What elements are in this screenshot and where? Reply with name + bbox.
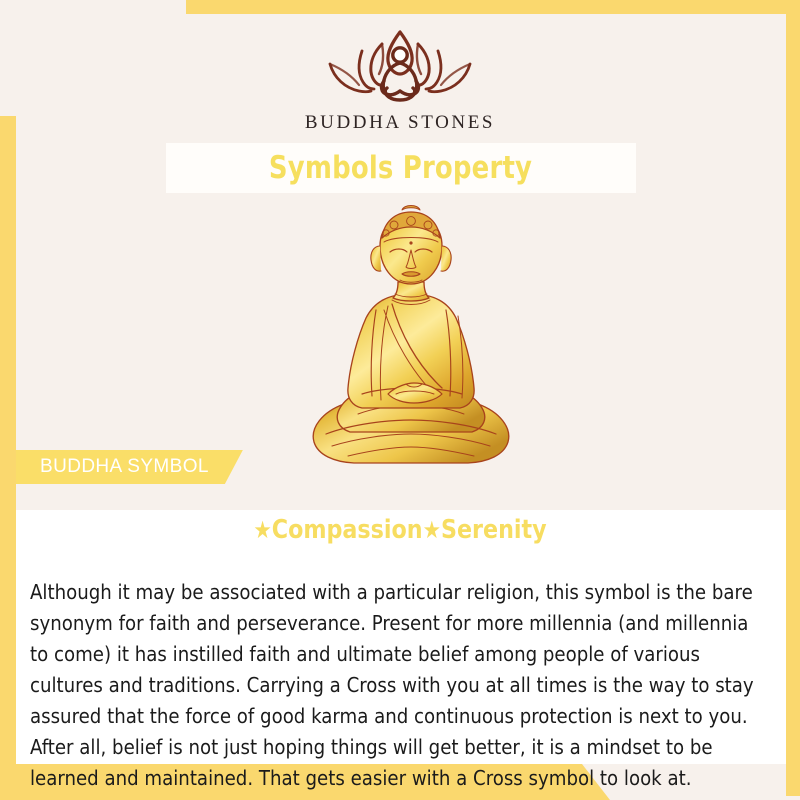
star-icon-right: ★	[423, 516, 441, 544]
lotus-meditation-figure-icon	[312, 24, 488, 108]
poster-canvas: BUDDHA STONES Symbols Property	[0, 0, 800, 800]
body-paragraph: Although it may be associated with a par…	[30, 577, 763, 794]
title-banner: Symbols Property	[166, 143, 636, 193]
subtitle-term-one: Compassion	[272, 515, 423, 545]
page-title: Symbols Property	[269, 150, 532, 186]
status-badge-label: BUDDHA SYMBOL	[40, 456, 209, 478]
decorative-top-band	[186, 0, 800, 14]
decorative-left-band	[0, 116, 16, 800]
status-badge: BUDDHA SYMBOL	[16, 450, 243, 484]
hero-image	[296, 198, 526, 498]
subtitle-term-two: Serenity	[441, 515, 547, 545]
star-icon-left: ★	[253, 516, 271, 544]
seated-golden-buddha-illustration	[296, 198, 526, 498]
brand-wordmark: BUDDHA STONES	[0, 112, 800, 134]
brand-logo: BUDDHA STONES	[0, 24, 800, 134]
section-subtitle: ★Compassion★Serenity	[20, 515, 780, 545]
